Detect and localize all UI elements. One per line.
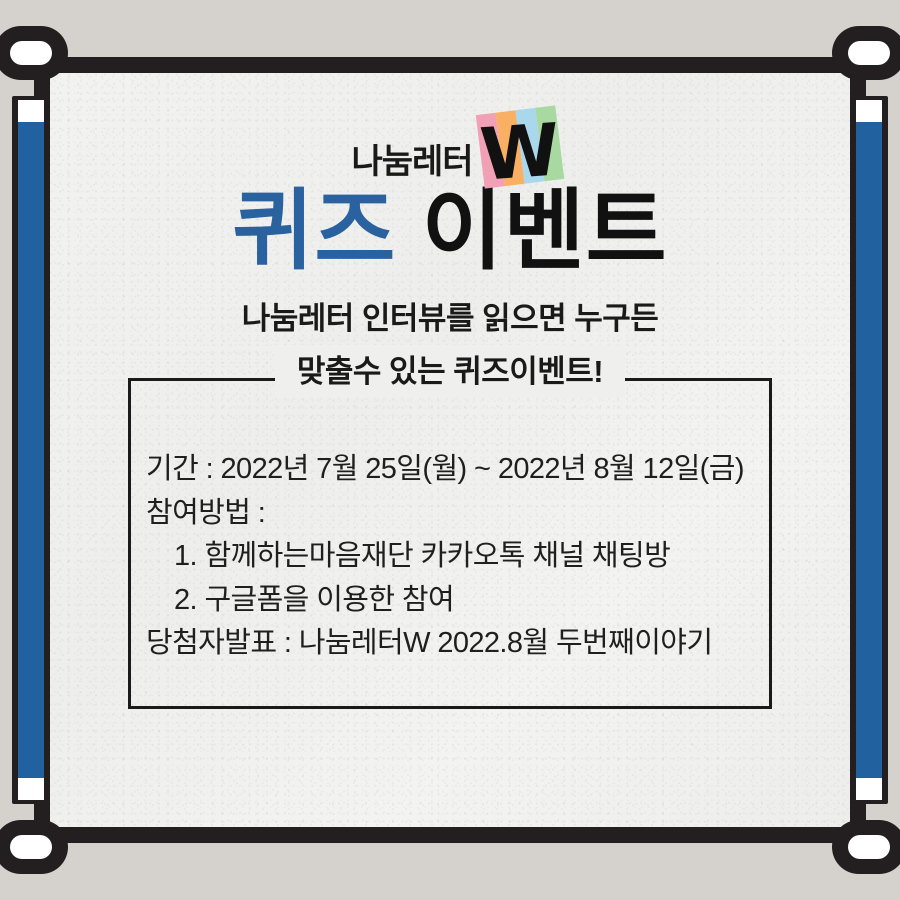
quiz-event-poster: 나눔레터 W 퀴즈 이벤트 나눔레터 인터뷰를 읽으면 누구든 맞출수 있는 퀴…	[0, 0, 900, 900]
rod-tick-top-left	[18, 100, 44, 122]
details-list: 기간 : 2022년 7월 25일(월) ~ 2022년 8월 12일(금) 참…	[146, 448, 766, 666]
w-logo-letter: W	[471, 107, 569, 197]
rod-tick-top-right	[856, 100, 882, 122]
subtitle-line-1: 나눔레터 인터뷰를 읽으면 누구든	[50, 292, 850, 345]
poster-header: 나눔레터 W 퀴즈 이벤트 나눔레터 인터뷰를 읽으면 누구든 맞출수 있는 퀴…	[50, 108, 850, 398]
frame-bar-bottom	[34, 827, 866, 843]
scroll-rod-right	[850, 96, 888, 804]
rod-tick-bottom-right	[856, 778, 882, 800]
detail-announcement: 당첨자발표 : 나눔레터W 2022.8월 두번째이야기	[146, 622, 766, 666]
corner-knob-bottom-right	[832, 820, 900, 874]
corner-knob-top-right	[832, 26, 900, 80]
rod-tick-bottom-left	[18, 778, 44, 800]
brand-name: 나눔레터	[12, 134, 812, 183]
corner-knob-top-left	[0, 26, 68, 80]
detail-method-1: 1. 함께하는마음재단 카카오톡 채널 채팅방	[146, 535, 766, 579]
detail-method-label: 참여방법 :	[146, 492, 766, 536]
brand-w-logo: W	[474, 108, 566, 194]
brand-row: 나눔레터 W	[50, 108, 850, 184]
corner-knob-bottom-left	[0, 820, 68, 874]
subtitle-line-2: 맞출수 있는 퀴즈이벤트!	[275, 345, 625, 398]
detail-period: 기간 : 2022년 7월 25일(월) ~ 2022년 8월 12일(금)	[146, 448, 766, 492]
title-part-event: 이벤트	[422, 181, 668, 280]
detail-method-2: 2. 구글폼을 이용한 참여	[146, 579, 766, 623]
scroll-rod-left	[12, 96, 50, 804]
title-part-quiz: 퀴즈	[232, 181, 396, 280]
frame-bar-top	[34, 57, 866, 73]
poster-subtitle: 나눔레터 인터뷰를 읽으면 누구든 맞출수 있는 퀴즈이벤트!	[50, 292, 850, 399]
page-title: 퀴즈 이벤트	[50, 186, 850, 276]
